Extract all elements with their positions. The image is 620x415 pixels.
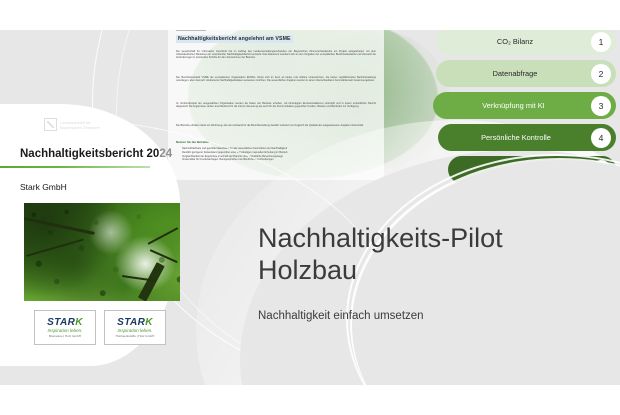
stark-logo-1-tagline: Inspiration leben. <box>48 328 83 333</box>
bottom-white-band <box>0 385 620 415</box>
document-paragraph-2: Der Berichtsstandard VSME der europäisch… <box>176 76 376 82</box>
institution-logo-line-2: Bayerischen Zimmerer <box>60 125 100 130</box>
process-step-3-number: 3 <box>591 96 611 116</box>
report-title-text: Nachhaltigkeitsbericht 20 <box>20 148 159 160</box>
document-heading: Nachhaltigkeitsbericht angelehnt am VSME <box>176 35 293 43</box>
forest-canopy-photo <box>24 203 180 301</box>
stark-logo-1: STARK Inspiration leben. Biomasse | Holz… <box>34 310 96 345</box>
institution-logo-mark-icon <box>44 118 57 131</box>
partner-logo-row: STARK Inspiration leben. Biomasse | Holz… <box>34 310 166 345</box>
page-subtitle: Nachhaltigkeit einfach umsetzen <box>258 310 424 322</box>
process-step-2-label: Datenabfrage <box>493 69 560 78</box>
stark-logo-2-wordmark: STARK <box>117 318 153 328</box>
page-title: Nachhaltigkeits-Pilot Holzbau <box>258 222 598 286</box>
report-title: Nachhaltigkeitsbericht 2024 <box>20 148 172 160</box>
report-cover-inner: Landesanstalt für Bayerischen Zimmerer N… <box>0 104 180 366</box>
institution-logo: Landesanstalt für Bayerischen Zimmerer <box>44 118 100 131</box>
stark-logo-2-word-accent: K <box>145 317 153 328</box>
report-company-name: Stark GmbH <box>20 182 67 192</box>
stark-logo-1-word-accent: K <box>75 317 83 328</box>
stark-logo-2: STARK Inspiration leben. Holzwerkstoffe … <box>104 310 166 345</box>
process-step-1-label: CO₂ Bilanz <box>497 37 555 46</box>
stark-logo-1-subtitle: Biomasse | Holz GmbH <box>49 334 81 338</box>
stark-logo-2-tagline: Inspiration leben. <box>118 328 153 333</box>
stark-logo-2-word-dark: STAR <box>117 317 145 328</box>
document-paragraph-3: Im Verbundprojekt der ausgewählten Organ… <box>176 102 376 108</box>
process-step-2[interactable]: Datenabfrage 2 <box>436 60 616 87</box>
top-white-band <box>0 0 620 30</box>
slide-canvas: Nachhaltigkeitsbericht angelehnt am VSME… <box>0 0 620 415</box>
process-step-4-label: Persönliche Kontrolle <box>481 133 573 142</box>
process-step-3[interactable]: Verknüpfung mit KI 3 <box>433 92 616 119</box>
stark-logo-1-word-dark: STAR <box>47 317 75 328</box>
institution-logo-text: Landesanstalt für Bayerischen Zimmerer <box>60 120 100 130</box>
process-step-1[interactable]: CO₂ Bilanz 1 <box>436 28 616 55</box>
report-cover-card: Landesanstalt für Bayerischen Zimmerer N… <box>0 104 180 366</box>
document-paragraph-1: Die Gesellschaft für Information Geschic… <box>176 50 376 60</box>
process-step-4-number: 4 <box>591 128 611 148</box>
process-step-3-label: Verknüpfung mit KI <box>482 101 566 110</box>
report-title-underline <box>0 166 150 168</box>
stark-logo-2-subtitle: Holzwerkstoffe | Holz GmbH <box>116 334 155 338</box>
process-step-4[interactable]: Persönliche Kontrolle 4 <box>438 124 616 151</box>
process-step-2-number: 2 <box>591 64 611 84</box>
report-title-year-tail: 24 <box>159 148 172 160</box>
document-paragraph-4: Die Betriebe erhalten damit ein Werkzeug… <box>176 124 376 127</box>
process-step-1-number: 1 <box>591 32 611 52</box>
stark-logo-1-wordmark: STARK <box>47 318 83 328</box>
